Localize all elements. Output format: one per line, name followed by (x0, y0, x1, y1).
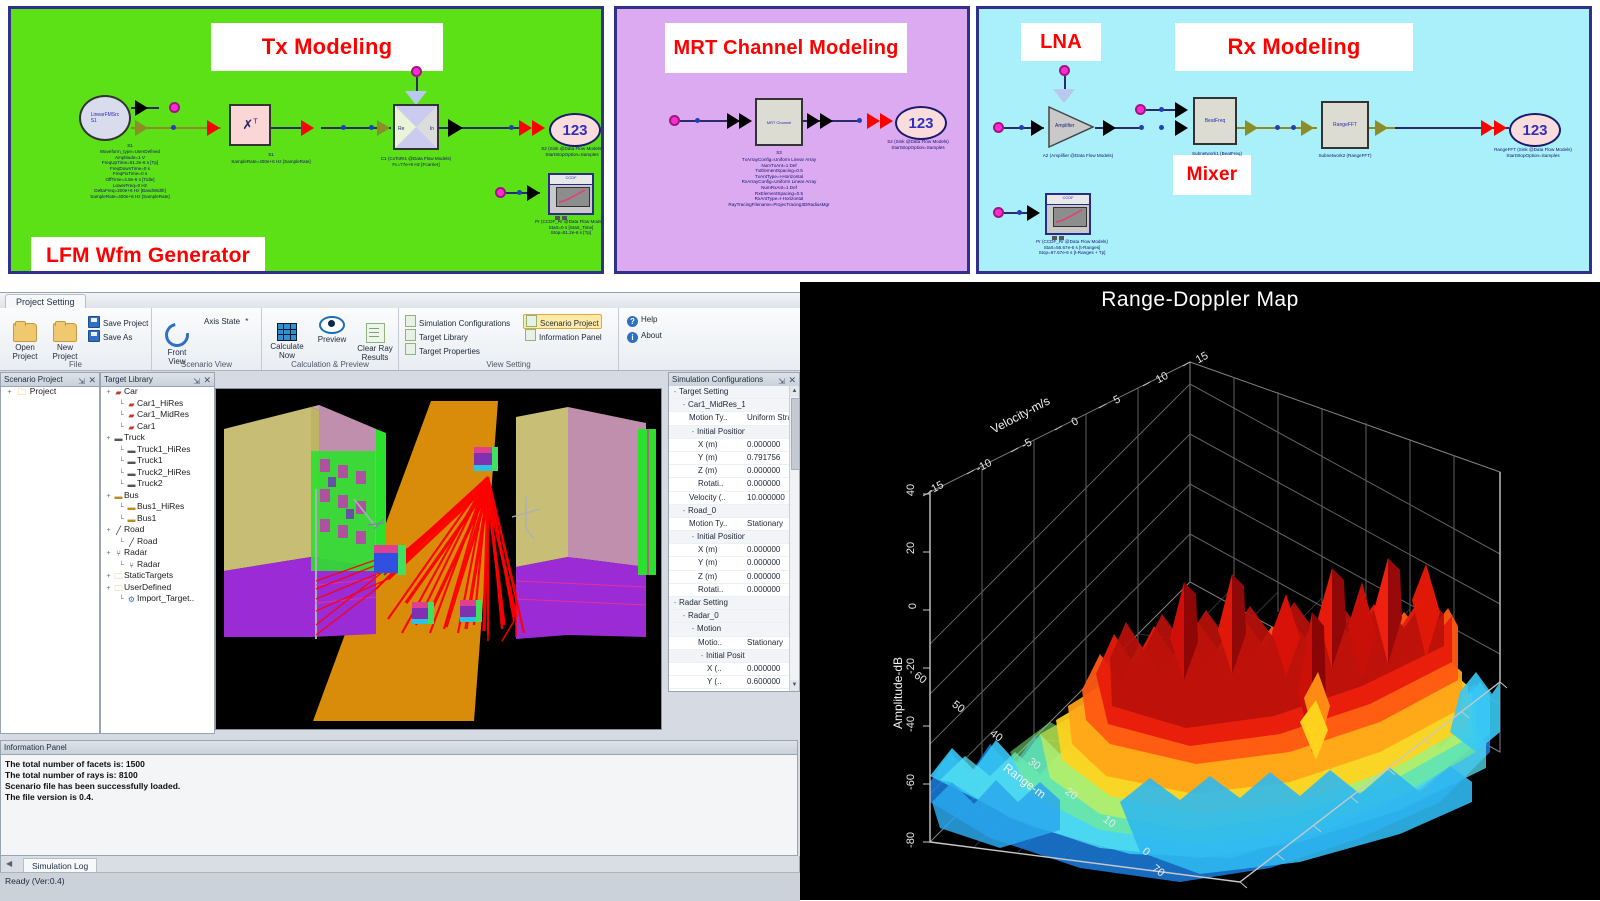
lna-caption: LNA (1021, 23, 1101, 61)
mixer-lo-port[interactable] (1135, 104, 1146, 115)
tree-item-bus1[interactable]: └▬Bus1 (101, 513, 214, 525)
wire-node (369, 125, 374, 130)
property-key: Velocity (.. (669, 492, 745, 504)
wire-node (1019, 125, 1024, 130)
information-panel-body: The total number of facets is: 1500 The … (1, 755, 797, 807)
property-key: X (.. (669, 663, 745, 675)
expander-icon[interactable]: - (680, 611, 688, 623)
property-row[interactable]: Z (m)0.000000 (669, 571, 790, 584)
help-label: Help (641, 315, 657, 324)
mrt-channel-block-text: MRT Channel (767, 120, 792, 125)
info-line: The total number of rays is: 8100 (5, 770, 793, 781)
save-project-label: Save Project (103, 319, 148, 328)
tree-item-car1[interactable]: └▰Car1 (101, 421, 214, 433)
property-key: -Motion (669, 623, 745, 636)
chevron-down-icon: * (245, 317, 248, 326)
scope-buttons-icon (555, 207, 589, 211)
wire-node (509, 125, 514, 130)
arrow-icon (1175, 120, 1188, 136)
arrow-icon (135, 100, 148, 116)
rx-input-port[interactable] (993, 122, 1004, 133)
ribbon-group-file: Open Project New Project Save Project Sa… (0, 308, 152, 370)
scope-screen-icon (556, 187, 590, 207)
tree-item-label: Import_Target.. (137, 593, 194, 603)
expander-icon[interactable]: - (689, 624, 697, 636)
lna-amplifier-block[interactable]: Amplifier (1047, 105, 1095, 149)
expander-icon[interactable]: - (689, 427, 697, 439)
target-library-toggle[interactable]: Target Library (405, 329, 468, 342)
rx-scope-title: CCDF (1047, 195, 1089, 205)
rx-scope-port[interactable] (993, 207, 1004, 218)
tx-mixer-params: Fc=77e+9 Hz [Fcarrier] (341, 162, 491, 168)
property-row[interactable]: X (..0.000000 (669, 663, 790, 676)
property-row[interactable]: Motion Ty..Uniform Straig.. (669, 412, 790, 425)
tx-pink-block-glyph: ✗T (242, 117, 257, 133)
tx-mixer-id: C1 (CxToRI1 @Data Flow Models) (341, 156, 491, 162)
scenario-editor-application: Project Setting Open Project New Project… (0, 292, 800, 901)
lfm-source-block-text: LinearFMSrc S1 (91, 112, 120, 124)
property-value[interactable]: Stationary (747, 637, 783, 649)
lfm-source-id: S1 (35, 143, 225, 149)
property-grid-scrollbar[interactable]: ▲ ▼ (789, 386, 799, 691)
property-row[interactable]: -Car1_MidRes_1 (669, 399, 790, 412)
help-icon: ? (627, 316, 638, 327)
property-key: Motion Ty.. (669, 412, 745, 424)
tab-simulation-log[interactable]: Simulation Log (23, 858, 97, 873)
ribbon-group-view-setting-title: View Setting (399, 360, 618, 369)
property-value[interactable]: 0.000000 (747, 544, 780, 556)
arrow-icon (1481, 120, 1494, 136)
tree-item-label: Bus1_HiRes (137, 501, 184, 511)
scrollbar-thumb[interactable] (791, 398, 800, 470)
simulation-configurations-property-grid: -Target Setting-Car1_MidRes_1Motion Ty..… (669, 386, 790, 691)
ray-tracing-scene (216, 389, 661, 729)
property-key: -Radar Setting (669, 597, 745, 610)
tree-item-truck[interactable]: +▬Truck (101, 432, 214, 444)
arrow-icon (739, 113, 752, 129)
panel-icon (405, 343, 416, 355)
wire-node (1275, 125, 1280, 130)
new-project-label: New Project (53, 343, 78, 361)
mrt-block-id: S3 (679, 150, 879, 156)
wire-node (1139, 125, 1144, 130)
scroll-up-icon[interactable]: ▲ (790, 386, 799, 397)
calculate-now-button[interactable]: Calculate Now (266, 314, 308, 360)
wire-node (1159, 125, 1164, 130)
property-key: Y (m) (669, 557, 745, 569)
property-value[interactable]: 0.600000 (747, 676, 780, 688)
tree-item-bus[interactable]: +▬Bus (101, 490, 214, 502)
arrow-icon (519, 120, 532, 136)
save-as-icon (88, 330, 100, 342)
amplitude-tick-label: -80 (905, 832, 917, 848)
range-doppler-map-title: Range-Doppler Map (800, 288, 1600, 312)
wire-node (857, 118, 862, 123)
property-row[interactable]: X (m)0.000000 (669, 544, 790, 557)
mrt-block-params: TxArrayConfig=Uniform Linear Array NumTx… (669, 157, 889, 207)
lna-bias-port[interactable] (1059, 65, 1070, 76)
save-icon (88, 316, 100, 328)
property-row[interactable]: -Road_0 (669, 505, 790, 518)
help-button[interactable]: ?Help (627, 315, 657, 327)
arrow-icon (807, 113, 820, 129)
tx-pink-block-id: S1 (201, 152, 341, 158)
expander-icon[interactable]: - (689, 532, 697, 544)
property-row[interactable]: Rotati..0.000000 (669, 478, 790, 491)
property-key: X (m) (669, 439, 745, 451)
lfm-source-params: Waveform_type=UserDefined Amplitude=1 V … (35, 149, 225, 199)
tx-pink-block-params: SampleRate=400e+6 Hz [SampleRate] (191, 159, 351, 165)
tree-item-truck1[interactable]: └▬Truck1 (101, 455, 214, 467)
property-key: -Initial Position (669, 650, 745, 663)
arrow-icon (1375, 120, 1388, 136)
bottom-tabstrip: ◀ Simulation Log (0, 856, 800, 872)
mrt-sink-value: 123 (908, 115, 933, 132)
wire-node (171, 125, 176, 130)
wire-node (1291, 125, 1296, 130)
tree-item-label: Truck (124, 432, 145, 442)
scenario-project-toggle[interactable]: Scenario Project (523, 314, 602, 329)
range-doppler-surface-plot (800, 282, 1600, 900)
tree-item-label: Road (124, 524, 144, 534)
scope-screen-icon (1053, 207, 1087, 227)
property-key: -Radar_0 (669, 610, 745, 623)
arrow-icon (867, 113, 880, 129)
calculate-icon (277, 323, 297, 341)
property-value[interactable]: 10.000000 (747, 492, 785, 504)
wire-node (1017, 210, 1022, 215)
arrow-icon (1103, 120, 1116, 136)
wire-node (517, 190, 522, 195)
tree-branch-icon: └ (117, 594, 126, 606)
amplitude-tick-label: -20 (905, 658, 917, 674)
arrow-icon (301, 120, 314, 136)
property-value[interactable]: 0.000000 (747, 663, 780, 675)
amplitude-tick-label: -40 (905, 716, 917, 732)
tab-project-setting[interactable]: Project Setting (5, 294, 86, 309)
property-value[interactable]: Stationary (747, 518, 783, 530)
tree-item-truck1-hires[interactable]: └▬Truck1_HiRes (101, 444, 214, 456)
expander-icon[interactable]: + (5, 387, 14, 399)
simulation-configurations-dock-title: Simulation Configurations (672, 375, 763, 384)
tx-modeling-caption: Tx Modeling (211, 23, 443, 71)
panel-icon (405, 315, 416, 327)
tree-item-truck2[interactable]: └▬Truck2 (101, 478, 214, 490)
property-row[interactable]: Z (m)0.000000 (669, 465, 790, 478)
ribbon-toolbar: Open Project New Project Save Project Sa… (0, 308, 800, 371)
rx-scope-label: Pr (CCDF_Rr @Data Flow Models) Start=56.… (1007, 239, 1137, 256)
tree-item-bus1-hires[interactable]: └▬Bus1_HiRes (101, 501, 214, 513)
property-value[interactable]: 0.791756 (747, 452, 780, 464)
tree-item-label: Car (124, 386, 138, 396)
wire (1095, 127, 1141, 129)
target-library-dock-header: Target Library ⇲ ✕ (101, 373, 214, 387)
target-library-tree: +▰Car└▰Car1_HiRes└▰Car1_MidRes└▰Car1+▬Tr… (101, 386, 214, 733)
beatfreq-block-text: BeatFreq (1205, 118, 1226, 124)
tree-item-car[interactable]: +▰Car (101, 386, 214, 398)
property-key: -Initial Position (669, 531, 745, 544)
scroll-down-icon[interactable]: ▼ (790, 680, 799, 691)
property-key: X (m) (669, 544, 745, 556)
folder-new-icon (53, 323, 77, 342)
target-library-label: Target Library (419, 333, 468, 342)
property-row[interactable]: Rotati..0.000000 (669, 584, 790, 597)
tree-item-label: Car1_HiRes (137, 398, 183, 408)
wire-node (341, 125, 346, 130)
property-row[interactable]: X (m)0.000000 (669, 439, 790, 452)
schematic-band: Tx Modeling LFM Wfm Generator LinearFMSr… (0, 0, 1600, 282)
property-row[interactable]: Z (..10.000000 (669, 689, 790, 691)
information-panel: Information Panel The total number of fa… (0, 740, 798, 856)
tree-item-project[interactable]: + 🗀 Project (1, 386, 99, 398)
property-row[interactable]: Motio..Stationary (669, 637, 790, 650)
target-properties-label: Target Properties (419, 347, 480, 356)
range-doppler-map-figure: Range-Doppler Map (800, 282, 1600, 900)
tree-item-label: Truck1_HiRes (137, 444, 191, 454)
info-line: The total number of facets is: 1500 (5, 759, 793, 770)
amplitude-tick-label: 0 (907, 603, 919, 609)
arrow-icon (1175, 102, 1188, 118)
tree-item-statictargets[interactable]: +🗀StaticTargets (101, 570, 214, 582)
property-value[interactable]: 0.000000 (747, 439, 780, 451)
info-icon: i (627, 332, 638, 343)
rangefft-label: Subnetwork2 (RangeFFT) (1297, 153, 1393, 159)
property-value[interactable]: 0.000000 (747, 478, 780, 490)
arrow-icon (405, 91, 427, 105)
rx-sink-value: 123 (1522, 122, 1547, 139)
simulation-configurations-label: Simulation Configurations (419, 319, 510, 328)
folder-open-icon (13, 323, 37, 342)
tree-item-label: StaticTargets (124, 570, 173, 580)
save-as-button[interactable]: Save As (88, 330, 132, 342)
tree-item-import-target[interactable]: └⚙Import_Target.. (101, 593, 214, 605)
ribbon-group-calculation: Calculate Now Preview Clear Ray Results … (262, 308, 399, 370)
amplitude-tick-label: 20 (905, 542, 917, 554)
property-key: Rotati.. (669, 478, 745, 490)
property-key: Motion Ty.. (669, 518, 745, 530)
tree-item-label: Radar (137, 559, 160, 569)
property-key: Y (m) (669, 452, 745, 464)
rx-ccdf-scope-block[interactable]: CCDF (1045, 193, 1091, 235)
wire (1064, 76, 1066, 90)
tab-scroll-left-icon[interactable]: ◀ (6, 859, 12, 868)
mrt-input-port[interactable] (669, 115, 680, 126)
property-row[interactable]: -Target Setting (669, 386, 790, 399)
save-as-label: Save As (103, 333, 132, 342)
folder-icon: 🗀 (16, 387, 27, 399)
tree-item-project-label: Project (30, 386, 56, 396)
arrow-icon (377, 120, 390, 136)
property-row[interactable]: Y (m)0.791756 (669, 452, 790, 465)
tree-item-label: Radar (124, 547, 147, 557)
property-key: -Initial Position (669, 426, 745, 439)
scope-buttons-icon (1052, 227, 1086, 231)
expander-icon[interactable]: - (680, 400, 688, 412)
scenario-project-label: Scenario Project (540, 319, 599, 328)
property-value[interactable]: 10.000000 (747, 689, 785, 691)
tx-modeling-panel: Tx Modeling LFM Wfm Generator LinearFMSr… (8, 6, 604, 274)
axis-state-dropdown[interactable]: Axis State * (204, 317, 248, 326)
property-key: Z (.. (669, 689, 745, 691)
property-row[interactable]: Y (m)0.000000 (669, 557, 790, 570)
property-value[interactable]: 0.000000 (747, 584, 780, 596)
panel-icon (405, 329, 416, 341)
tree-item-label: Car1_MidRes (137, 409, 189, 419)
amplitude-tick-label: -60 (905, 774, 917, 790)
property-row[interactable]: -Motion (669, 623, 790, 636)
lna-label: A2 (Amplifier @Data Flow Models) (1013, 153, 1143, 159)
preview-button[interactable]: Preview (312, 316, 352, 344)
tree-item-label: Road (137, 536, 157, 546)
property-value[interactable]: 0.000000 (747, 571, 780, 583)
property-row[interactable]: Y (..0.600000 (669, 676, 790, 689)
scenario-project-dock: Scenario Project ⇲ ✕ + 🗀 Project (0, 372, 100, 734)
lna-block-text: Amplifier (1055, 123, 1074, 129)
property-key: -Road_0 (669, 505, 745, 518)
about-button[interactable]: iAbout (627, 331, 662, 343)
property-row[interactable]: Velocity (..10.000000 (669, 492, 790, 505)
beatfreq-subnetwork-block[interactable]: BeatFreq (1193, 97, 1237, 145)
arrow-icon (135, 120, 148, 136)
rotate-view-icon (160, 318, 193, 351)
rx-sink-block[interactable]: 123 (1509, 113, 1561, 147)
information-panel-label: Information Panel (539, 333, 602, 342)
import-icon: ⚙ (126, 594, 137, 606)
property-key: Y (.. (669, 676, 745, 688)
rangefft-subnetwork-block[interactable]: RangeFFT (1321, 101, 1369, 149)
mixer-out-port-label: In (430, 126, 434, 132)
property-row[interactable]: -Radar_0 (669, 610, 790, 623)
property-row[interactable]: -Initial Position (669, 531, 790, 544)
scope-port[interactable] (495, 187, 506, 198)
tx-scope-title: CCDF (550, 175, 592, 185)
target-library-dock-title: Target Library (104, 375, 153, 384)
arrow-icon (532, 120, 545, 136)
mrt-sink-label: S2 (Sink @Data Flow Models) StartStopOpt… (863, 139, 970, 150)
tree-item-road[interactable]: +╱Road (101, 524, 214, 536)
tree-item-car1-midres[interactable]: └▰Car1_MidRes (101, 409, 214, 421)
property-row[interactable]: -Initial Position (669, 426, 790, 439)
lfm-source-block[interactable]: LinearFMSrc S1 (79, 95, 131, 141)
signal-port[interactable] (169, 102, 180, 113)
arrow-icon (1301, 120, 1314, 136)
open-project-button[interactable]: Open Project (6, 314, 44, 361)
arrow-icon (1494, 120, 1507, 136)
arrow-icon (1245, 120, 1258, 136)
target-library-dock: Target Library ⇲ ✕ +▰Car└▰Car1_HiRes└▰Ca… (100, 372, 215, 734)
tx-sink-block[interactable]: 123 (549, 113, 601, 147)
amplitude-tick-label: 40 (905, 484, 917, 496)
tree-item-car1-hires[interactable]: └▰Car1_HiRes (101, 398, 214, 410)
scenario-3d-viewport[interactable] (215, 388, 662, 730)
about-label: About (641, 331, 662, 340)
tx-ccdf-scope-block[interactable]: CCDF (548, 173, 594, 215)
property-key: -Target Setting (669, 386, 745, 399)
property-key: Z (m) (669, 571, 745, 583)
arrow-icon (1027, 205, 1040, 221)
expander-icon[interactable]: - (671, 387, 679, 399)
front-view-button[interactable]: Front View (160, 314, 194, 366)
property-row[interactable]: Motion Ty..Stationary (669, 518, 790, 531)
arrow-icon (820, 113, 833, 129)
property-value[interactable]: Uniform Straig.. (747, 412, 790, 424)
information-panel-toggle[interactable]: Information Panel (525, 329, 602, 342)
tree-item-radar[interactable]: └⑂Radar (101, 559, 214, 571)
property-row[interactable]: -Radar Setting (669, 597, 790, 610)
property-value[interactable]: 0.000000 (747, 465, 780, 477)
clear-results-icon (366, 323, 385, 343)
lo-port[interactable] (411, 66, 422, 77)
eye-icon (319, 316, 345, 334)
property-row[interactable]: -Initial Position (669, 650, 790, 663)
tree-item-label: Car1 (137, 421, 155, 431)
tree-item-truck2-hires[interactable]: └▬Truck2_HiRes (101, 467, 214, 479)
arrow-icon (1053, 89, 1075, 103)
tree-item-label: Bus1 (137, 513, 156, 523)
scenario-project-dock-header: Scenario Project ⇲ ✕ (1, 373, 99, 387)
amplitude-axis-title: Amplitude-dB (891, 657, 905, 729)
scenario-project-tree: + 🗀 Project (1, 386, 99, 733)
simulation-configurations-toggle[interactable]: Simulation Configurations (405, 315, 510, 328)
expander-icon[interactable]: - (698, 651, 706, 663)
expander-icon[interactable]: - (671, 598, 679, 610)
beatfreq-label: Subnetwork1 (BeatFreq) (1169, 151, 1265, 157)
property-value[interactable]: 0.000000 (747, 557, 780, 569)
rx-sink-label: RangeFFT (Sink @Data Flow Models) StartS… (1473, 147, 1592, 158)
axis-state-label: Axis State (204, 317, 240, 326)
ribbon-group-calculation-title: Calculation & Preview (262, 360, 398, 369)
tx-pink-block[interactable]: ✗T (229, 104, 271, 146)
new-project-button[interactable]: New Project (46, 314, 84, 361)
mrt-channel-panel: MRT Channel Modeling MRT Channel 123 S2 … (614, 6, 970, 274)
tx-sink-label: S2 (Sink @Data Flow Models) StartStopOpt… (517, 146, 604, 157)
tree-item-label: Bus (124, 490, 139, 500)
panel-icon (526, 315, 537, 327)
open-project-label: Open Project (13, 343, 38, 361)
ribbon-group-scenario-view: Front View Axis State * Scenario View (152, 308, 262, 370)
ribbon-group-view-setting: Simulation Configurations Target Library… (399, 308, 619, 370)
ribbon-group-file-title: File (0, 360, 151, 369)
tx-mixer-block[interactable]: Re In (393, 104, 439, 150)
clear-ray-results-button[interactable]: Clear Ray Results (354, 314, 396, 362)
tree-item-label: Truck1 (137, 455, 163, 465)
arrow-icon (207, 120, 220, 136)
mixer-in-port-label: Re (398, 126, 404, 132)
tree-item-road[interactable]: └╱Road (101, 536, 214, 548)
tree-item-userdefined[interactable]: +🗀UserDefined (101, 582, 214, 594)
status-bar: Ready (Ver:0.4) (0, 872, 800, 901)
lfm-wfm-generator-caption: LFM Wfm Generator (31, 237, 265, 274)
rx-modeling-panel: LNA Rx Modeling Mixer Amplifier A2 (Ampl… (976, 6, 1592, 274)
expander-icon[interactable]: - (680, 506, 688, 518)
tree-item-radar[interactable]: +⑂Radar (101, 547, 214, 559)
save-project-button[interactable]: Save Project (88, 316, 148, 328)
mrt-sink-block[interactable]: 123 (895, 106, 947, 140)
scenario-project-dock-title: Scenario Project (4, 375, 63, 384)
tree-item-label: Truck2_HiRes (137, 467, 191, 477)
target-properties-toggle[interactable]: Target Properties (405, 343, 480, 356)
wire-node (1159, 107, 1164, 112)
calculate-now-label: Calculate Now (270, 342, 303, 360)
property-key: Motio.. (669, 637, 745, 649)
tx-scope-label: Pr (CCDF_Rr @Data Flow Models) Start=0 s… (511, 219, 604, 236)
rangefft-block-text: RangeFFT (1333, 122, 1357, 128)
simulation-configurations-dock-header: Simulation Configurations ⇲ ✕ (669, 373, 799, 387)
ribbon-group-scenario-view-title: Scenario View (152, 360, 261, 369)
tx-sink-value: 123 (562, 122, 587, 139)
arrow-icon (448, 119, 463, 137)
mrt-channel-block[interactable]: MRT Channel (755, 98, 803, 146)
